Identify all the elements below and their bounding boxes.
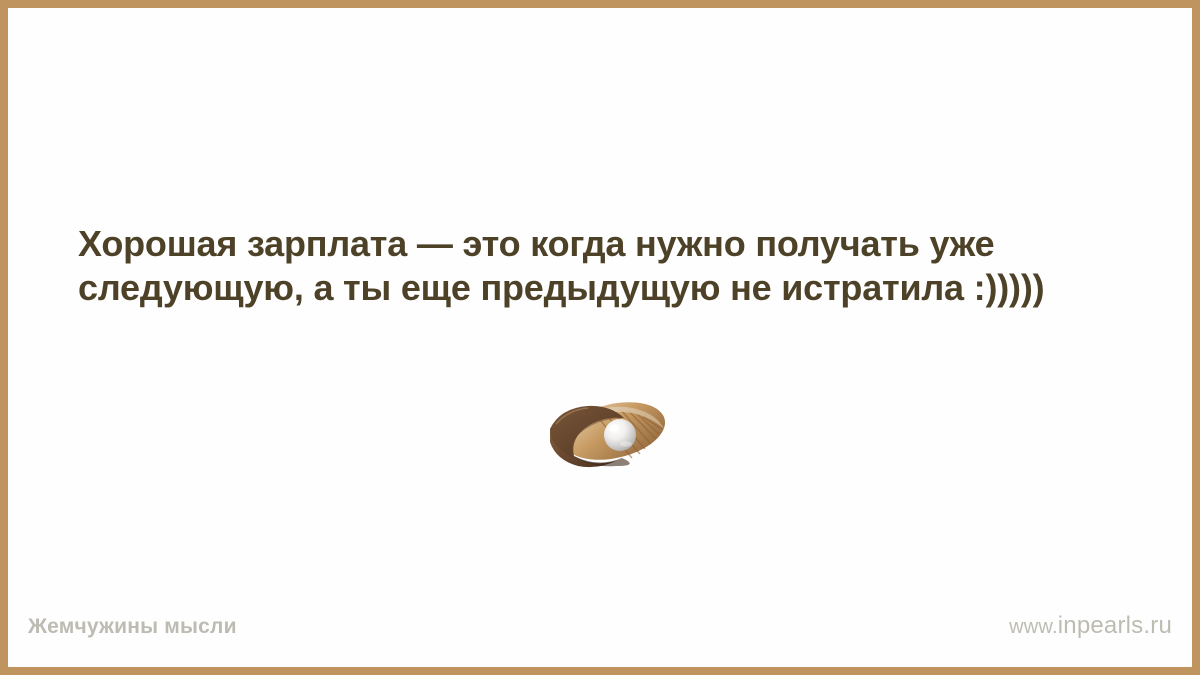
quote-card: Хорошая зарплата — это когда нужно получ… — [0, 0, 1200, 675]
pearl-icon — [604, 419, 636, 451]
site-url-prefix: www. — [1009, 616, 1058, 638]
brand-label: Жемчужины мысли — [28, 615, 237, 639]
quote-text: Хорошая зарплата — это когда нужно получ… — [78, 222, 1148, 310]
oyster-shell-with-pearl-image — [544, 396, 668, 470]
site-url-domain: inpearls.ru — [1058, 612, 1172, 639]
site-url[interactable]: www.inpearls.ru — [1009, 612, 1172, 640]
oyster-shell-icon — [544, 396, 668, 470]
